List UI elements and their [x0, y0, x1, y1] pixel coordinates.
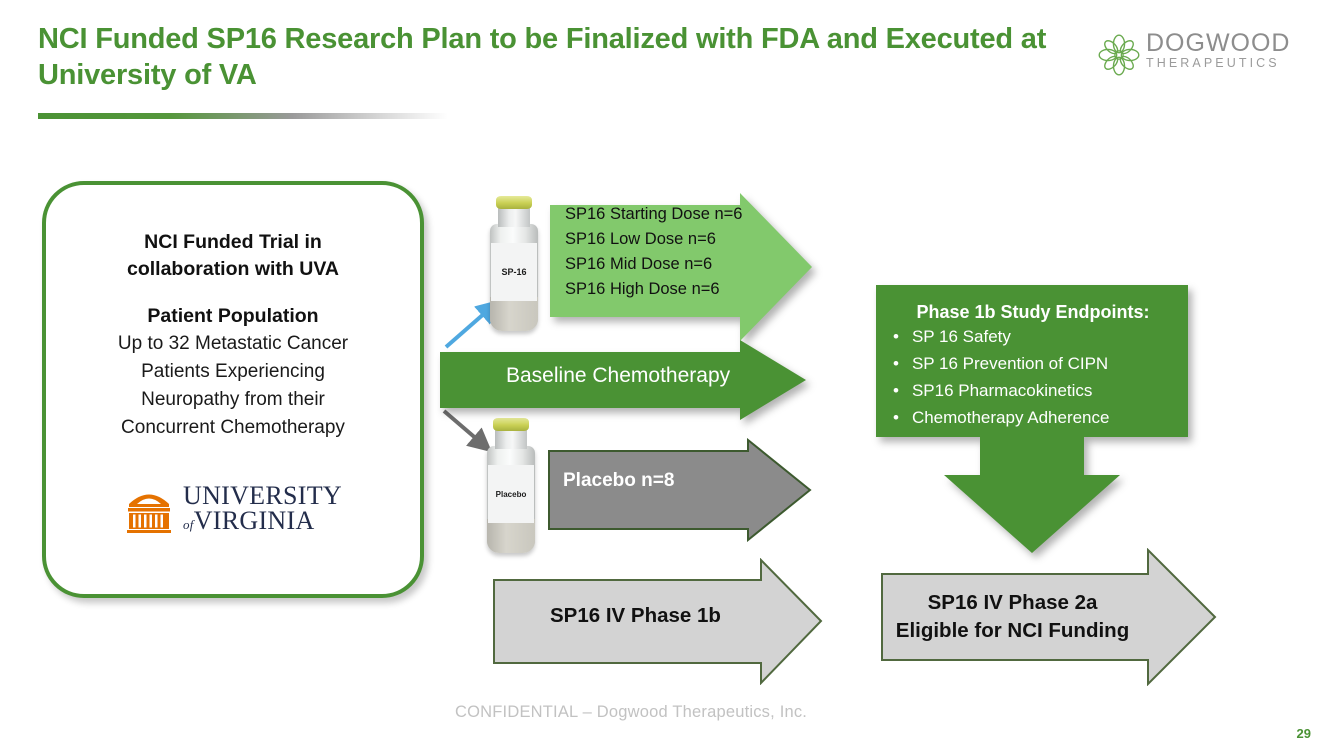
phase-2a-label: SP16 IV Phase 2a Eligible for NCI Fundin…: [895, 589, 1130, 645]
bullet-icon: •: [893, 377, 899, 404]
card-body-line: Patients Experiencing: [46, 358, 420, 386]
bullet-icon: •: [893, 404, 899, 431]
dose-line: SP16 High Dose n=6: [565, 277, 790, 302]
card-heading-line2: collaboration with UVA: [46, 256, 420, 283]
dose-line: SP16 Mid Dose n=6: [565, 252, 790, 277]
endpoint-item: SP 16 Safety: [912, 323, 1011, 350]
dose-line: SP16 Low Dose n=6: [565, 227, 790, 252]
vial-neck: [495, 429, 527, 449]
dose-arrow-labels: SP16 Starting Dose n=6 SP16 Low Dose n=6…: [565, 202, 790, 302]
endpoint-item: SP 16 Prevention of CIPN: [912, 350, 1108, 377]
page-title: NCI Funded SP16 Research Plan to be Fina…: [38, 22, 1078, 94]
logo-tagline: THERAPEUTICS: [1146, 56, 1291, 71]
vial-cap: [496, 196, 532, 209]
baseline-chemotherapy-label: Baseline Chemotherapy: [506, 364, 730, 388]
dose-line: SP16 Starting Dose n=6: [565, 202, 790, 227]
uva-logo-line1: UNIVERSITY: [183, 484, 342, 508]
phase-1b-label: SP16 IV Phase 1b: [550, 604, 721, 628]
page-number: 29: [1297, 726, 1311, 741]
vial-label: SP-16: [491, 243, 537, 301]
card-body-line: Up to 32 Metastatic Cancer: [46, 330, 420, 358]
card-body-line: Concurrent Chemotherapy: [46, 414, 420, 442]
slide: NCI Funded SP16 Research Plan to be Fina…: [0, 0, 1333, 749]
phase-2a-line2: Eligible for NCI Funding: [895, 617, 1130, 645]
bullet-icon: •: [893, 323, 899, 350]
logo-wordmark: DOGWOOD: [1146, 30, 1291, 56]
card-body-line: Neuropathy from their: [46, 386, 420, 414]
endpoint-item: SP16 Pharmacokinetics: [912, 377, 1092, 404]
title-underline-bar: [38, 113, 448, 119]
dogwood-logo: DOGWOOD THERAPEUTICS: [1096, 30, 1311, 82]
endpoint-item: Chemotherapy Adherence: [912, 404, 1110, 431]
vial-neck: [498, 207, 530, 227]
endpoints-content: Phase 1b Study Endpoints: •SP 16 Safety …: [893, 302, 1183, 431]
endpoints-heading: Phase 1b Study Endpoints:: [893, 302, 1183, 323]
uva-logo-of: of: [183, 517, 194, 532]
bullet-icon: •: [893, 350, 899, 377]
card-subheading: Patient Population: [46, 303, 420, 330]
vial-label: Placebo: [488, 465, 534, 523]
phase-2a-line1: SP16 IV Phase 2a: [895, 589, 1130, 617]
card-heading-line1: NCI Funded Trial in: [46, 229, 420, 256]
vial-fluid: [487, 519, 535, 553]
sp16-vial: SP-16: [483, 196, 545, 334]
placebo-arrow-label: Placebo n=8: [563, 470, 674, 492]
uva-rotunda-icon: [124, 487, 174, 535]
uva-logo: UNIVERSITY ofVIRGINIA: [46, 484, 420, 538]
placebo-vial: Placebo: [480, 418, 542, 556]
trial-overview-card: NCI Funded Trial in collaboration with U…: [42, 181, 424, 598]
confidential-footer: CONFIDENTIAL – Dogwood Therapeutics, Inc…: [455, 703, 807, 722]
vial-fluid: [490, 297, 538, 331]
uva-logo-line2: VIRGINIA: [194, 506, 315, 535]
dogwood-flower-icon: [1096, 32, 1142, 78]
